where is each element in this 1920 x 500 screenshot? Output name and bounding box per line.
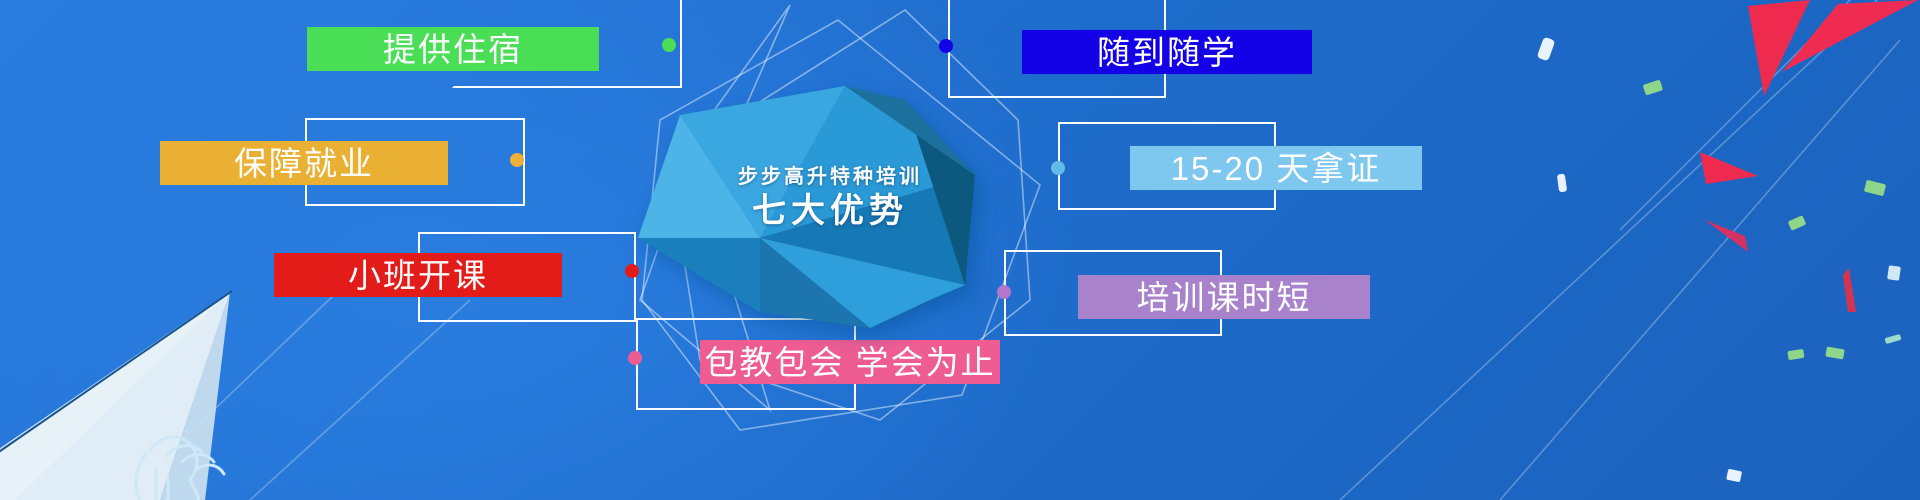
- center-subtitle: 步步高升特种培训: [620, 165, 1040, 190]
- center-title: 七大优势: [620, 190, 1040, 233]
- promo-banner: 步步高升特种培训 七大优势 提供住宿 保障就业 小班开课 包教包会 学会为止 随…: [0, 0, 1920, 500]
- center-polygon-graphic: [0, 0, 1920, 500]
- center-title-block: 步步高升特种培训 七大优势: [620, 165, 1040, 233]
